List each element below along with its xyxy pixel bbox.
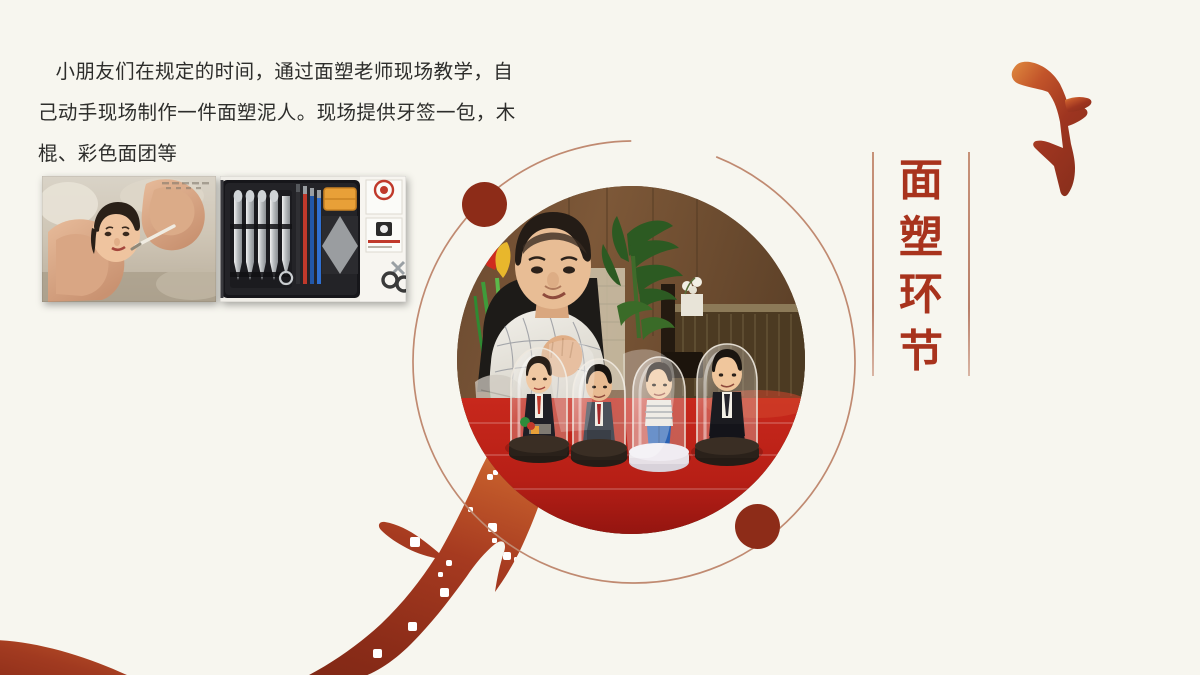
vertical-title-block: 面 塑 环 节 [872, 152, 970, 376]
title-char-1: 面 [890, 152, 952, 209]
photo-strip [42, 176, 406, 302]
photo-clay-figurines[interactable] [457, 186, 805, 534]
body-paragraph: 小朋友们在规定的时间，通过面塑老师现场教学，自己动手现场制作一件面塑泥人。现场提… [38, 52, 528, 175]
title-char-4: 节 [890, 323, 952, 380]
slide-canvas: 小朋友们在规定的时间，通过面塑老师现场教学，自己动手现场制作一件面塑泥人。现场提… [0, 0, 1200, 675]
title-char-2: 塑 [890, 209, 952, 266]
vertical-title-text: 面 塑 环 节 [890, 152, 952, 380]
photo-toolkit[interactable] [220, 176, 406, 302]
title-rule-right [968, 152, 970, 376]
orbit-dot-upper-left [462, 182, 507, 227]
dolphin-icon [1008, 48, 1118, 218]
photo-sculpting[interactable] [42, 176, 216, 302]
title-rule-left [872, 152, 874, 376]
orbit-dot-lower-right [735, 504, 780, 549]
koi-fin-icon [0, 610, 290, 675]
title-char-3: 环 [890, 266, 952, 323]
